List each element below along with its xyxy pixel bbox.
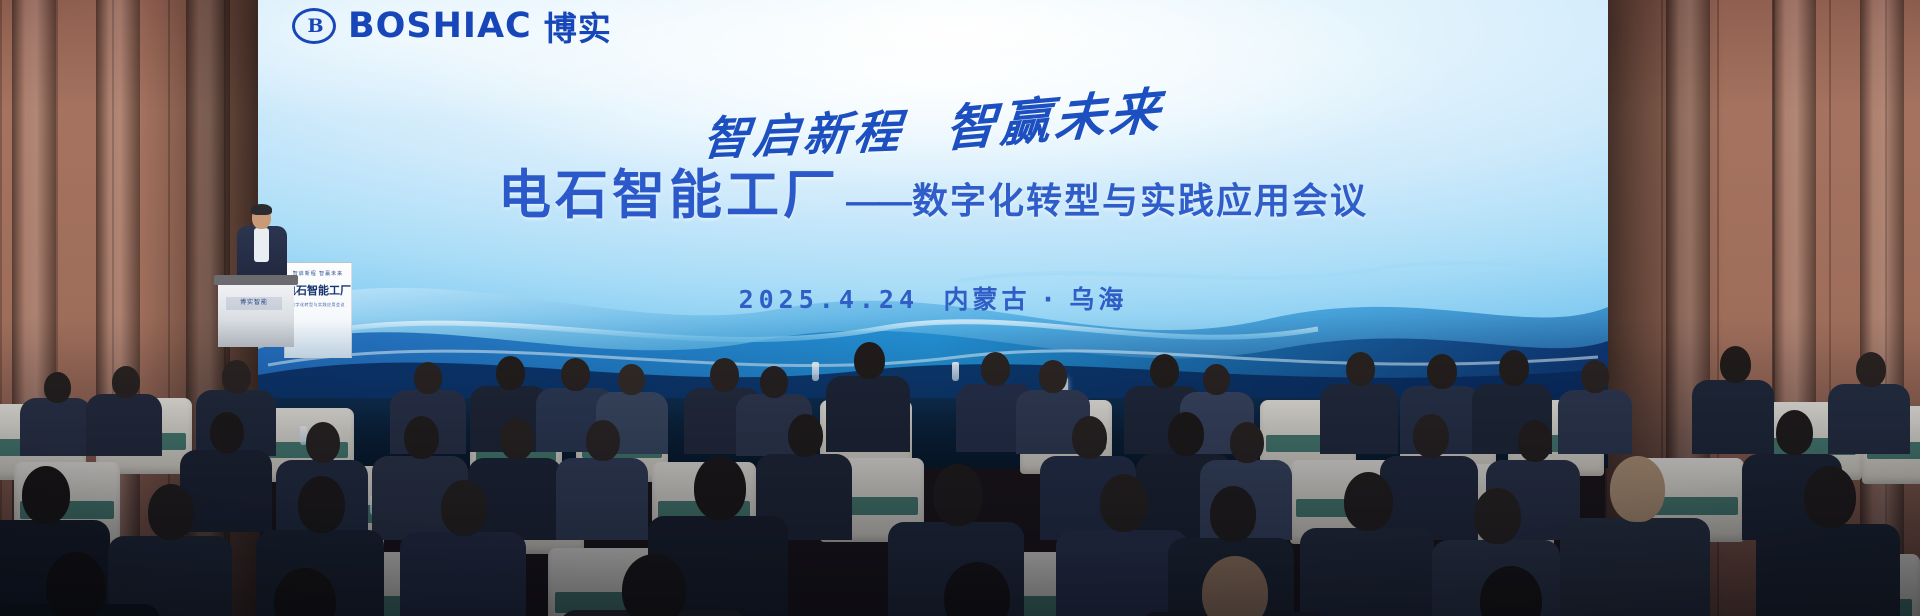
- attendee-head: [1804, 466, 1856, 528]
- lectern-nameplate: 博实智能: [226, 297, 282, 310]
- attendee-head: [298, 476, 345, 533]
- attendee-head: [222, 360, 251, 394]
- attendee-head: [1776, 410, 1813, 455]
- conference-date: 2025.4.24: [739, 285, 919, 314]
- attendee-head: [1230, 422, 1264, 463]
- brand-wordmark: BOSHIAC: [348, 6, 532, 46]
- attendee: [86, 366, 162, 456]
- attendee-torso: [1756, 524, 1900, 616]
- attendee-head: [1427, 354, 1457, 389]
- attendee-torso: [556, 458, 648, 540]
- attendee-head: [561, 358, 590, 391]
- attendee-head: [1474, 488, 1521, 544]
- attendee: [880, 562, 1070, 616]
- attendee-head: [1210, 486, 1256, 542]
- attendee-head: [1346, 352, 1375, 386]
- lectern-top: [214, 275, 298, 285]
- speaker-shirt: [254, 228, 269, 262]
- attendee-head: [1856, 352, 1886, 387]
- boshiac-emblem-icon: B: [292, 8, 336, 44]
- conference-place: 内蒙古 · 乌海: [944, 285, 1128, 314]
- attendee-head: [1720, 346, 1751, 383]
- attendee-head: [586, 420, 620, 461]
- led-title-row: 电石智能工厂 —— 数字化转型与实践应用会议: [258, 153, 1608, 229]
- attendee-head: [1100, 474, 1148, 532]
- attendee: [1420, 566, 1600, 616]
- water-bottle: [812, 362, 819, 381]
- attendee-head: [1518, 420, 1552, 462]
- conference-photo-scene: 智启新程 智赢未来 电石智能工厂 —— 数字化转型与实践应用会议 2025.4.…: [0, 0, 1920, 616]
- audience-area: [0, 316, 1920, 616]
- attendee-head: [22, 466, 70, 524]
- attendee-head: [1499, 350, 1529, 386]
- calligraphy-gap: [908, 150, 942, 151]
- attendee: [400, 480, 526, 616]
- attendee: [1140, 556, 1328, 616]
- attendee-head: [854, 342, 885, 379]
- attendee-head: [306, 422, 340, 463]
- brand-logo: B BOSHIAC 博实: [292, 2, 612, 50]
- attendee-torso: [400, 532, 526, 616]
- attendee-head: [1168, 412, 1204, 456]
- attendee-torso: [20, 398, 92, 456]
- attendee-head: [694, 456, 746, 520]
- attendee-head: [1039, 360, 1067, 393]
- attendee: [556, 420, 648, 540]
- title-dash: ——: [846, 183, 910, 222]
- attendee-head: [46, 552, 106, 616]
- calligraphy-phrase-2: 智赢未来: [944, 71, 1167, 162]
- attendee: [20, 372, 92, 456]
- attendee-head: [148, 484, 194, 540]
- brand-wordmark-cn: 博实: [544, 2, 612, 50]
- attendee-head: [112, 366, 140, 398]
- attendee: [560, 554, 746, 616]
- attendee-head: [1610, 456, 1665, 522]
- attendee-head: [404, 416, 439, 459]
- attendee-head: [414, 362, 442, 394]
- attendee: [216, 568, 392, 616]
- attendee-head: [1480, 566, 1542, 616]
- led-meta-row: 2025.4.24 内蒙古 · 乌海: [258, 280, 1608, 316]
- attendee-head: [1581, 360, 1609, 393]
- attendee-head: [441, 480, 487, 536]
- attendee-head: [1072, 416, 1107, 459]
- conference-title-sub: 数字化转型与实践应用会议: [912, 172, 1368, 224]
- speaker-hair: [251, 204, 272, 215]
- attendee-head: [1413, 414, 1449, 458]
- attendee-head: [622, 554, 686, 616]
- attendee-head: [760, 366, 788, 398]
- attendee: [0, 552, 160, 616]
- attendee-head: [788, 414, 823, 457]
- attendee-head: [496, 356, 525, 390]
- attendee-head: [933, 464, 983, 526]
- attendee-head: [1344, 472, 1393, 531]
- attendee-head: [210, 412, 244, 453]
- attendee-head: [981, 352, 1010, 386]
- attendee-head: [618, 364, 645, 395]
- attendee-head: [1202, 556, 1268, 616]
- attendee-head: [44, 372, 71, 403]
- attendee-head: [710, 358, 739, 392]
- attendee-head: [1203, 364, 1230, 395]
- attendee-head: [274, 568, 336, 616]
- attendee-head: [500, 418, 534, 460]
- attendee: [1756, 466, 1900, 616]
- attendee-head: [944, 562, 1010, 616]
- conference-title-main: 电石智能工厂: [498, 153, 840, 229]
- attendee-torso: [86, 394, 162, 456]
- attendee-head: [1150, 354, 1179, 388]
